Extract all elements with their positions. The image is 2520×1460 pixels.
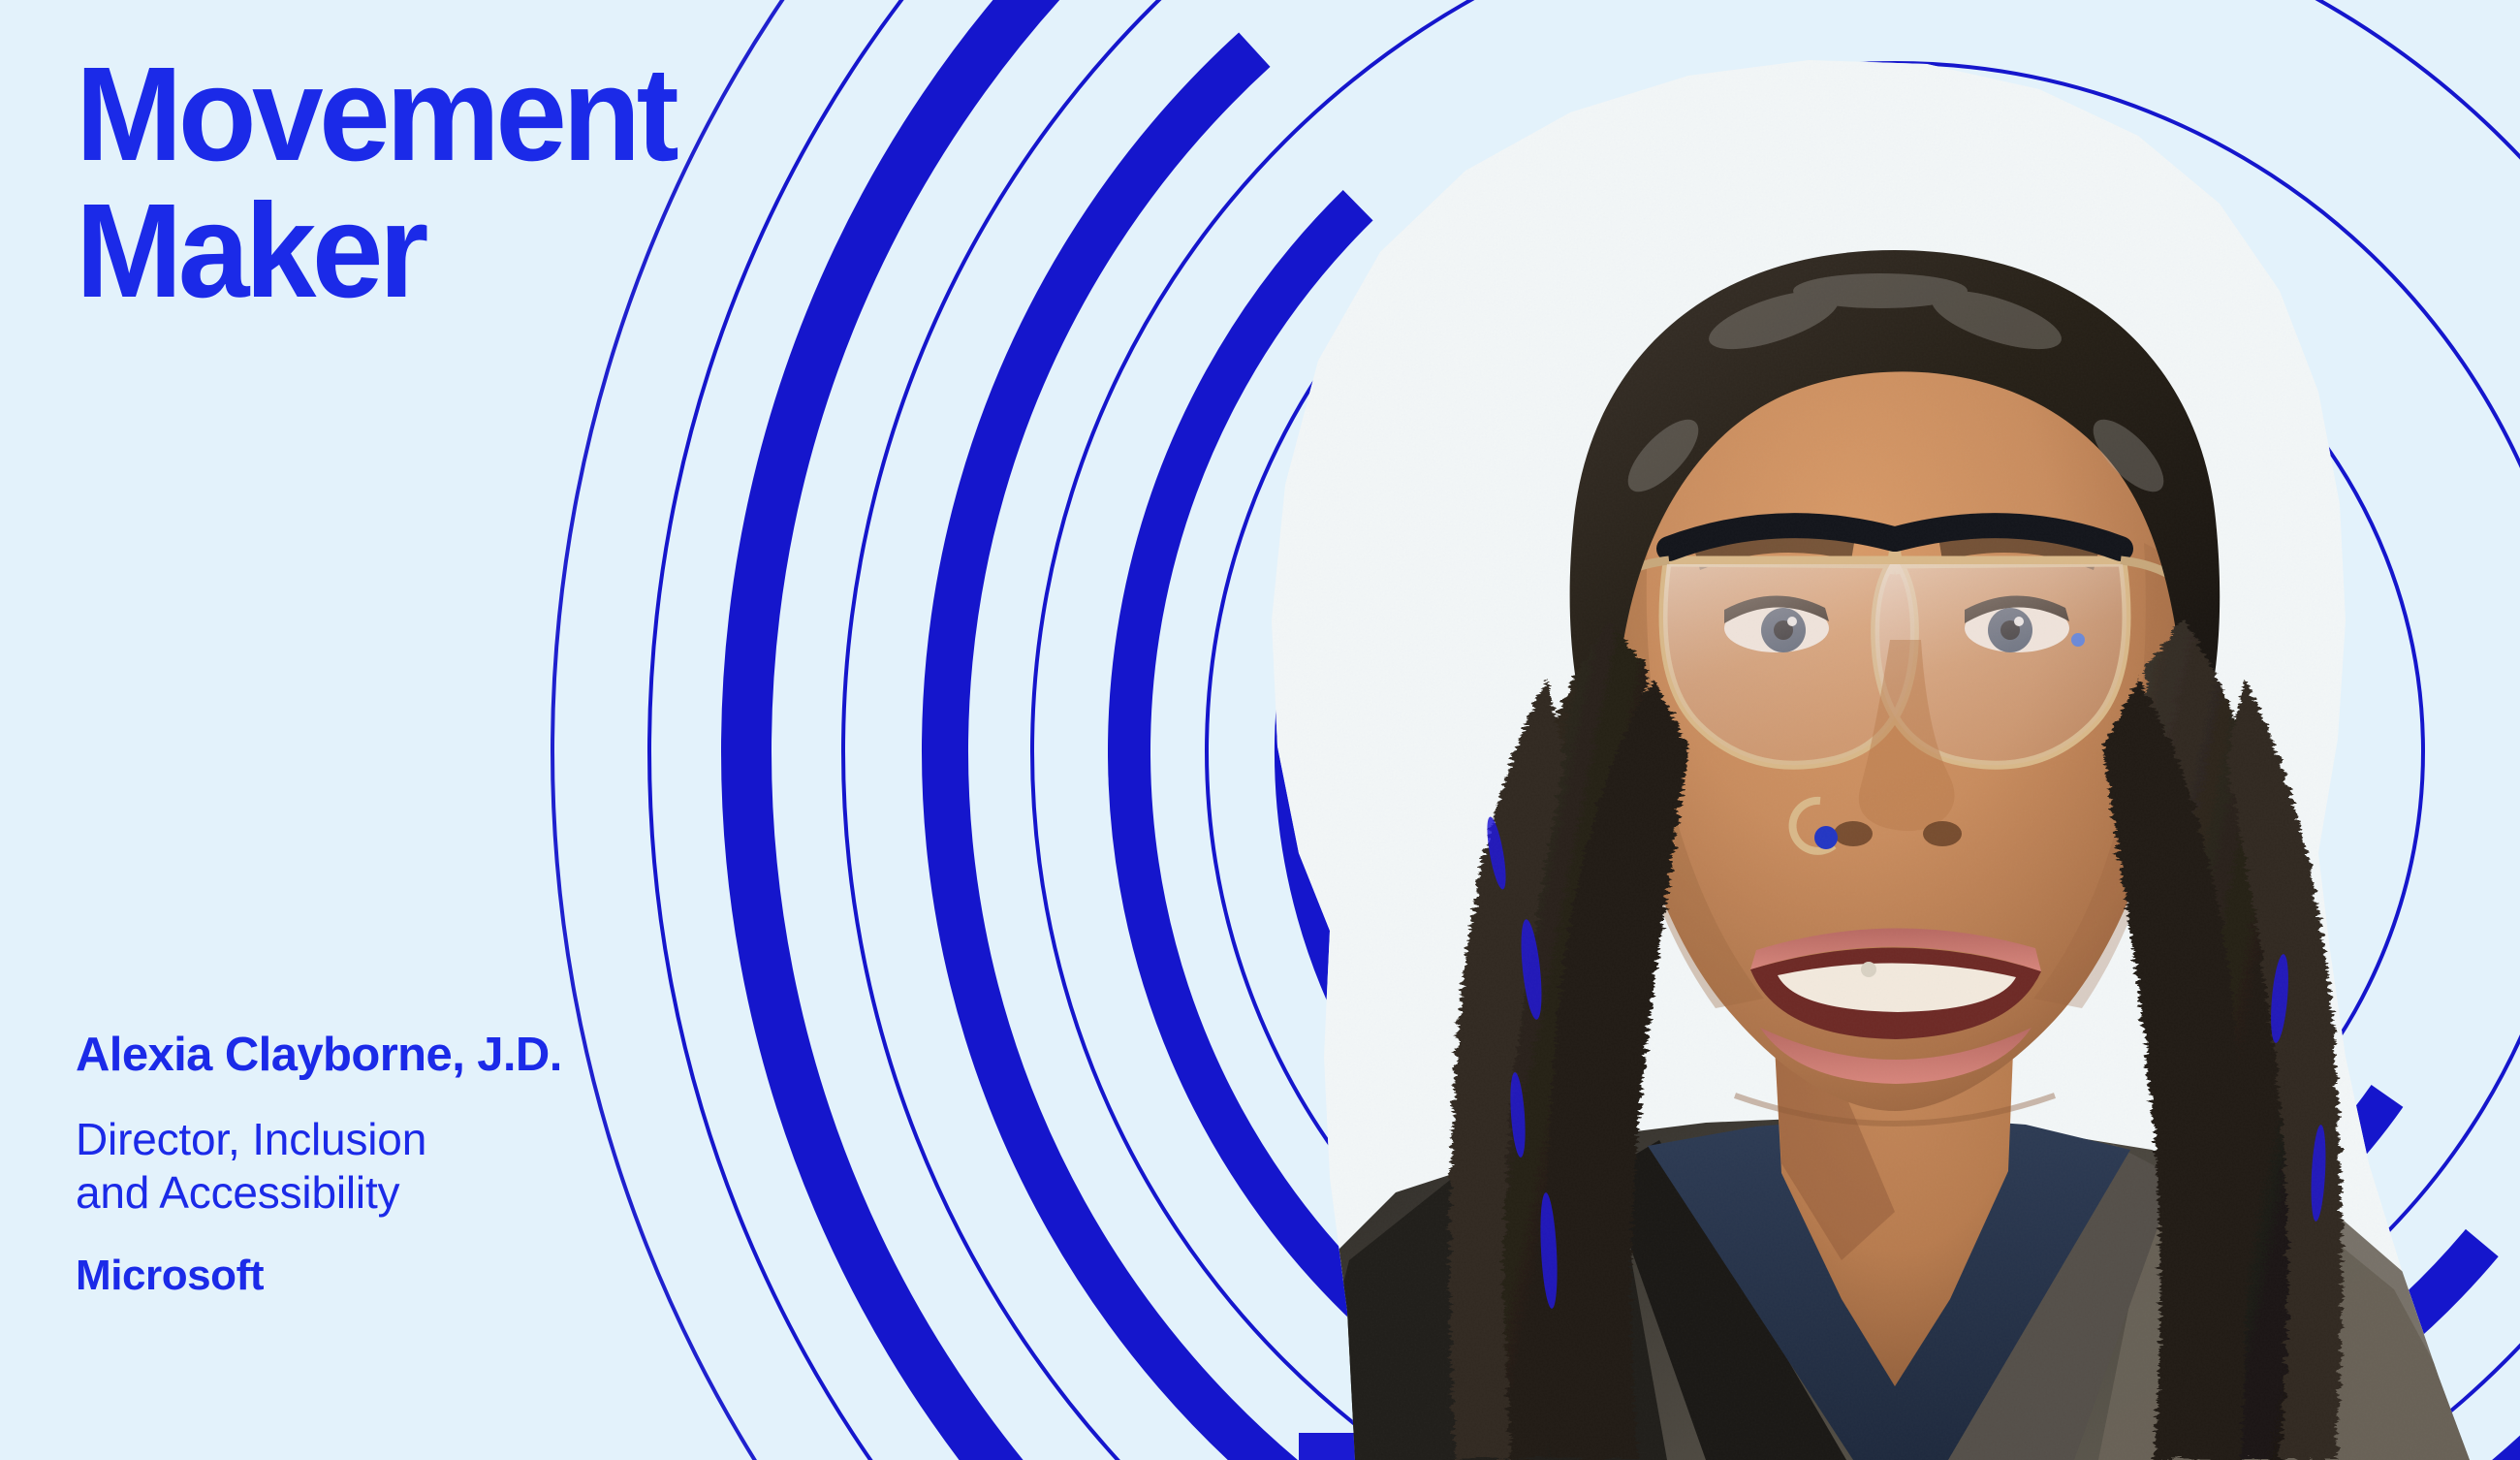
speaker-announcement-card: Movement Maker Alexia Clayborne, J.D. Di… xyxy=(0,0,2520,1460)
background-graphic xyxy=(0,0,2520,1460)
